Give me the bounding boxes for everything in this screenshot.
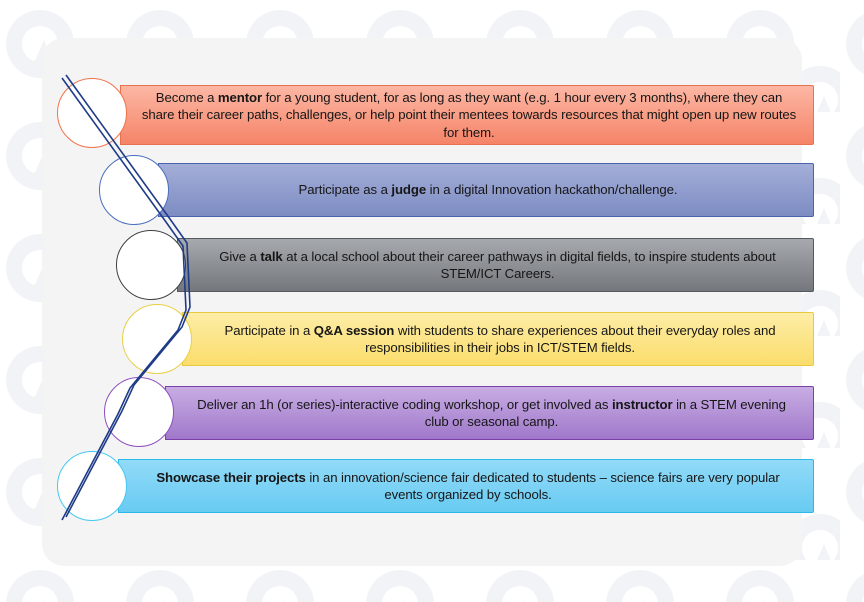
step-6-bar[interactable]: Showcase their projects in an innovation…: [118, 459, 814, 513]
infographic-page: Become a mentor for a young student, for…: [0, 0, 864, 602]
step-5-bar[interactable]: Deliver an 1h (or series)-interactive co…: [165, 386, 814, 440]
step-1-text: Become a mentor for a young student, for…: [139, 89, 799, 140]
step-4-text: Participate in a Q&A session with studen…: [201, 322, 799, 356]
step-2-text: Participate as a judge in a digital Inno…: [177, 181, 799, 198]
step-2-circle[interactable]: [99, 155, 169, 225]
step-1-bar[interactable]: Become a mentor for a young student, for…: [120, 85, 814, 145]
step-4-bar[interactable]: Participate in a Q&A session with studen…: [182, 312, 814, 366]
step-1-circle[interactable]: [57, 78, 127, 148]
step-5-circle[interactable]: [104, 377, 174, 447]
step-2-bar[interactable]: Participate as a judge in a digital Inno…: [158, 163, 814, 217]
process-flow: Become a mentor for a young student, for…: [0, 0, 864, 602]
step-3-text: Give a talk at a local school about thei…: [196, 248, 799, 282]
step-5-text: Deliver an 1h (or series)-interactive co…: [184, 396, 799, 430]
step-3-circle[interactable]: [116, 230, 186, 300]
step-6-text: Showcase their projects in an innovation…: [137, 469, 799, 503]
step-6-circle[interactable]: [57, 451, 127, 521]
step-4-circle[interactable]: [122, 304, 192, 374]
step-3-bar[interactable]: Give a talk at a local school about thei…: [177, 238, 814, 292]
